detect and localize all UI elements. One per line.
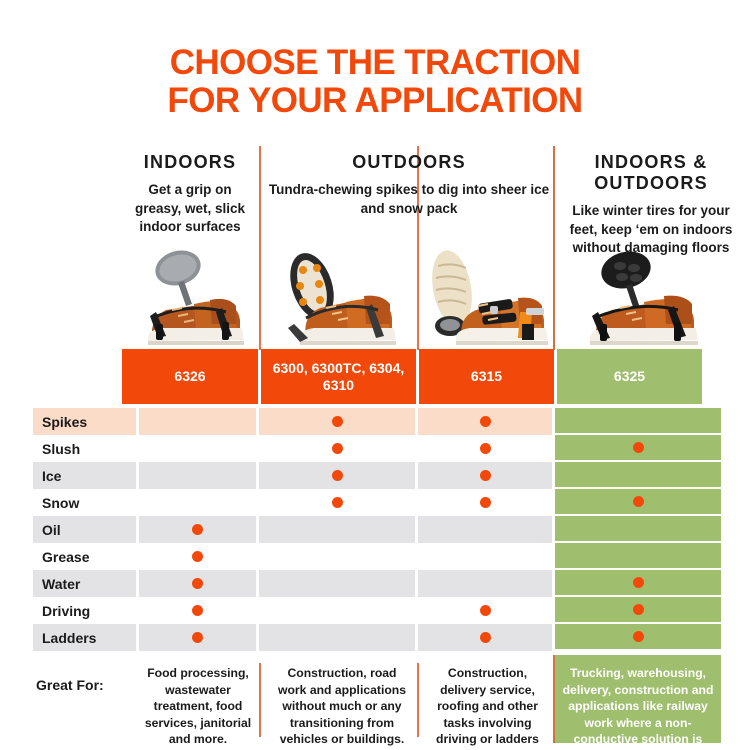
matrix-cell (139, 516, 256, 543)
great-for-footer: Great For: Food processing, wastewater t… (0, 655, 750, 750)
feature-dot-icon (332, 416, 343, 427)
matrix-cell (555, 516, 721, 543)
matrix-row-label: Slush (33, 435, 136, 462)
matrix-cell (139, 570, 256, 597)
feature-dot-icon (633, 496, 644, 507)
matrix-row-label: Spikes (33, 408, 136, 435)
boot-spike-cleat-illustration (272, 246, 402, 351)
matrix-row: Slush (0, 435, 750, 462)
column-heading-indoors-outdoors: INDOORS & OUTDOORS Like winter tires for… (557, 152, 745, 258)
feature-dot-empty (480, 551, 491, 562)
feature-dot-empty (192, 416, 203, 427)
matrix-row: Spikes (0, 408, 750, 435)
matrix-row: Water (0, 570, 750, 597)
feature-dot-empty (192, 443, 203, 454)
matrix-cell (418, 624, 552, 651)
feature-matrix: SpikesSlushIceSnowOilGreaseWaterDrivingL… (0, 408, 750, 653)
matrix-cell (418, 462, 552, 489)
column-heading-title: INDOORS & OUTDOORS (557, 152, 745, 194)
model-number-cell: 6300, 6300TC, 6304, 6310 (261, 349, 416, 404)
matrix-cell (418, 408, 552, 435)
matrix-cell (139, 624, 256, 651)
matrix-row: Driving (0, 597, 750, 624)
feature-dot-icon (480, 632, 491, 643)
feature-dot-icon (192, 632, 203, 643)
footer-divider-2 (417, 663, 419, 737)
great-for-cell: Construction, road work and applications… (268, 661, 416, 748)
matrix-cell (555, 489, 721, 516)
column-heading-subtitle: Tundra-chewing spikes to dig into sheer … (268, 181, 550, 218)
matrix-row-label: Ladders (33, 624, 136, 651)
feature-dot-icon (192, 551, 203, 562)
feature-dot-icon (192, 605, 203, 616)
feature-dot-empty (332, 551, 343, 562)
matrix-row-label: Snow (33, 489, 136, 516)
matrix-cell (418, 435, 552, 462)
matrix-cell (259, 543, 415, 570)
matrix-cell (259, 408, 415, 435)
feature-dot-empty (633, 415, 644, 426)
matrix-row: Snow (0, 489, 750, 516)
matrix-row: Grease (0, 543, 750, 570)
great-for-cell: Construction, delivery service, roofing … (424, 661, 551, 750)
title-line-2: FOR YOUR APPLICATION (0, 82, 750, 120)
footer-divider-1 (259, 663, 261, 737)
matrix-cell (139, 489, 256, 516)
column-heading-title: INDOORS (124, 152, 256, 173)
matrix-cell (139, 543, 256, 570)
great-for-cell: Trucking, warehousing, delivery, constru… (555, 655, 721, 743)
feature-dot-icon (633, 631, 644, 642)
matrix-cell (139, 597, 256, 624)
infographic-page: CHOOSE THE TRACTION FOR YOUR APPLICATION… (0, 0, 750, 750)
feature-dot-empty (332, 605, 343, 616)
boot-indoor-outdoor-traction-illustration (562, 246, 710, 351)
boot-midfoot-traction-illustration (422, 246, 548, 351)
feature-dot-icon (332, 470, 343, 481)
great-for-label: Great For: (36, 677, 140, 693)
matrix-cell (555, 624, 721, 651)
feature-dot-empty (633, 469, 644, 480)
matrix-cell (555, 597, 721, 624)
matrix-cell (418, 597, 552, 624)
model-number-bar: 6326 6300, 6300TC, 6304, 6310 6315 6325 (122, 349, 750, 404)
matrix-cell (139, 408, 256, 435)
column-heading-indoors: INDOORS Get a grip on greasy, wet, slick… (124, 152, 256, 237)
model-number-cell: 6315 (419, 349, 554, 404)
great-for-cell: Food processing, wastewater treatment, f… (139, 661, 257, 748)
page-title: CHOOSE THE TRACTION FOR YOUR APPLICATION (0, 44, 750, 120)
feature-dot-icon (633, 442, 644, 453)
feature-dot-icon (192, 524, 203, 535)
product-photo-6326 (122, 246, 257, 351)
feature-dot-icon (332, 497, 343, 508)
matrix-cell (555, 462, 721, 489)
matrix-row: Ladders (0, 624, 750, 651)
matrix-cell (259, 570, 415, 597)
product-photo-strip (122, 246, 722, 351)
matrix-cell (555, 408, 721, 435)
feature-dot-empty (332, 578, 343, 589)
feature-dot-icon (480, 470, 491, 481)
product-photo-6300 (272, 246, 402, 351)
matrix-row-label: Driving (33, 597, 136, 624)
feature-dot-icon (480, 605, 491, 616)
matrix-row-label: Oil (33, 516, 136, 543)
boot-traction-illustration (122, 246, 257, 351)
feature-dot-icon (480, 416, 491, 427)
column-heading-subtitle: Get a grip on greasy, wet, slick indoor … (124, 181, 256, 237)
model-number-cell: 6326 (122, 349, 258, 404)
title-line-1: CHOOSE THE TRACTION (0, 44, 750, 82)
feature-dot-empty (480, 524, 491, 535)
feature-dot-empty (633, 550, 644, 561)
matrix-row: Oil (0, 516, 750, 543)
matrix-row-label: Water (33, 570, 136, 597)
matrix-cell (259, 462, 415, 489)
feature-dot-empty (332, 524, 343, 535)
matrix-row: Ice (0, 462, 750, 489)
matrix-cell (139, 462, 256, 489)
feature-dot-empty (192, 497, 203, 508)
feature-dot-icon (633, 577, 644, 588)
feature-dot-icon (480, 497, 491, 508)
matrix-row-label: Ice (33, 462, 136, 489)
matrix-cell (259, 489, 415, 516)
matrix-cell (259, 516, 415, 543)
matrix-row-label: Grease (33, 543, 136, 570)
matrix-cell (418, 543, 552, 570)
matrix-cell (418, 570, 552, 597)
feature-dot-empty (480, 578, 491, 589)
matrix-cell (259, 624, 415, 651)
product-photo-6315 (422, 246, 548, 351)
matrix-cell (418, 489, 552, 516)
matrix-cell (555, 570, 721, 597)
matrix-cell (418, 516, 552, 543)
matrix-cell (259, 435, 415, 462)
feature-dot-icon (480, 443, 491, 454)
feature-dot-icon (633, 604, 644, 615)
feature-dot-icon (332, 443, 343, 454)
feature-dot-empty (192, 470, 203, 481)
feature-dot-empty (633, 523, 644, 534)
matrix-cell (259, 597, 415, 624)
matrix-cell (555, 543, 721, 570)
matrix-cell (555, 435, 721, 462)
column-heading-title: OUTDOORS (268, 152, 550, 173)
feature-dot-icon (192, 578, 203, 589)
model-number-cell: 6325 (557, 349, 702, 404)
matrix-cell (139, 435, 256, 462)
product-photo-6325 (562, 246, 710, 351)
feature-dot-empty (332, 632, 343, 643)
column-heading-outdoors: OUTDOORS Tundra-chewing spikes to dig in… (268, 152, 550, 218)
